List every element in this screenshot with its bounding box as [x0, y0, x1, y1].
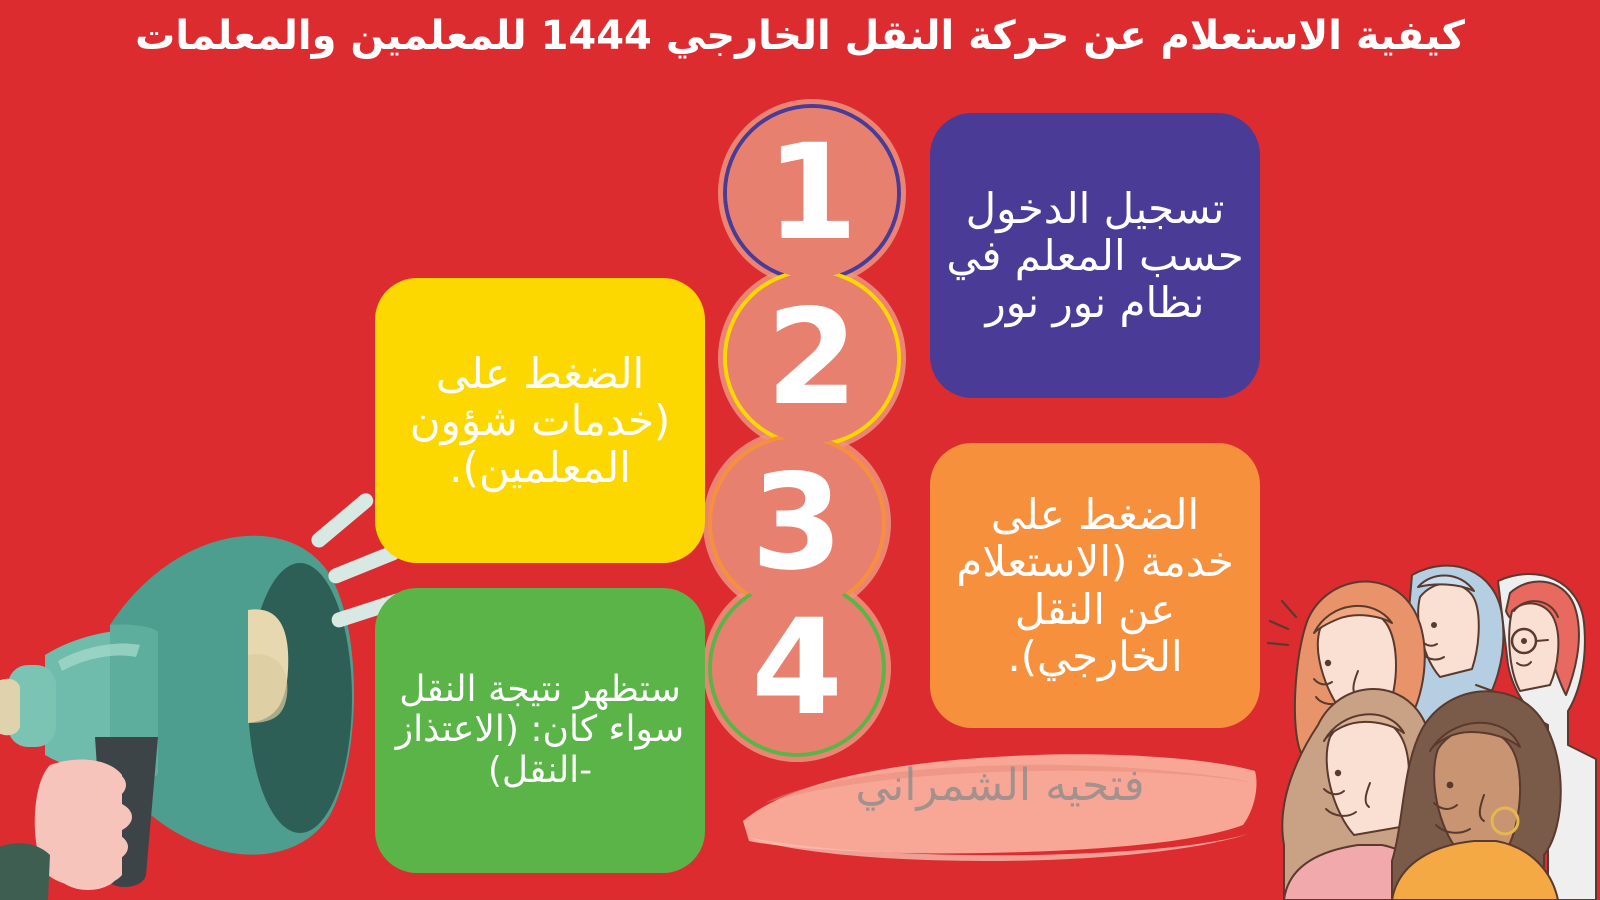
- infographic-canvas: كيفية الاستعلام عن حركة النقل الخارجي 14…: [0, 0, 1600, 900]
- step-card-4[interactable]: ستظهر نتيجة النقل سواء كان: (الاعتذاز -ا…: [375, 588, 705, 873]
- watermark-text: فتحيه الشمراني: [735, 760, 1265, 811]
- step-text-4: ستظهر نتيجة النقل سواء كان: (الاعتذاز -ا…: [375, 670, 705, 791]
- step-text-2: الضغط على (خدمات شؤون المعلمين).: [375, 350, 705, 491]
- step-text-1: تسجيل الدخول حسب المعلم في نظام نور نور: [930, 185, 1260, 326]
- step-card-3[interactable]: الضغط على خدمة (الاستعلام عن النقل الخار…: [930, 443, 1260, 728]
- step-text-3: الضغط على خدمة (الاستعلام عن النقل الخار…: [930, 491, 1260, 679]
- step-number-1: 1: [766, 127, 858, 259]
- step-number-badge-3: 3: [712, 438, 882, 608]
- step-number-4: 4: [751, 602, 843, 734]
- step-number-3: 3: [751, 457, 843, 589]
- page-title: كيفية الاستعلام عن حركة النقل الخارجي 14…: [0, 14, 1600, 58]
- step-number-badge-1: 1: [727, 108, 897, 278]
- step-card-2[interactable]: الضغط على (خدمات شؤون المعلمين).: [375, 278, 705, 563]
- step-card-1[interactable]: تسجيل الدخول حسب المعلم في نظام نور نور: [930, 113, 1260, 398]
- step-number-badge-2: 2: [727, 273, 897, 443]
- step-number-2: 2: [766, 292, 858, 424]
- crowd-of-women-illustration: [1262, 545, 1600, 900]
